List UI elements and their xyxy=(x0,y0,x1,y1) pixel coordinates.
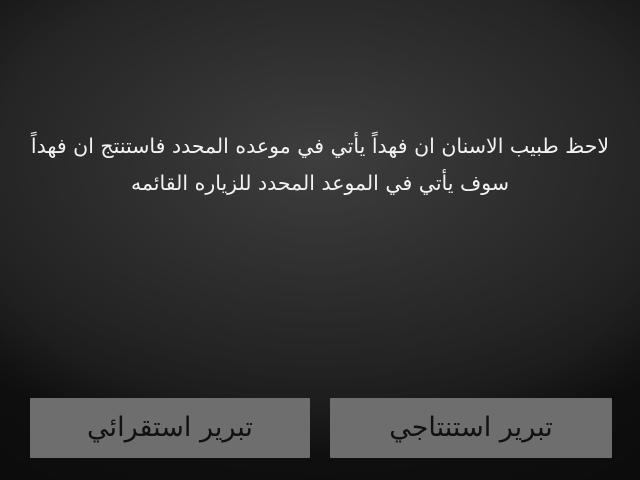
answer-button-inductive[interactable]: تبرير استقرائي xyxy=(30,398,310,458)
answer-button-deductive[interactable]: تبرير استنتاجي xyxy=(330,398,612,458)
question-area: لاحظ طبيب الاسنان ان فهداً يأتي في موعده… xyxy=(0,128,640,202)
question-text: لاحظ طبيب الاسنان ان فهداً يأتي في موعده… xyxy=(12,128,628,202)
answer-options: تبرير استنتاجي تبرير استقرائي xyxy=(0,398,640,458)
quiz-screen: لاحظ طبيب الاسنان ان فهداً يأتي في موعده… xyxy=(0,0,640,480)
